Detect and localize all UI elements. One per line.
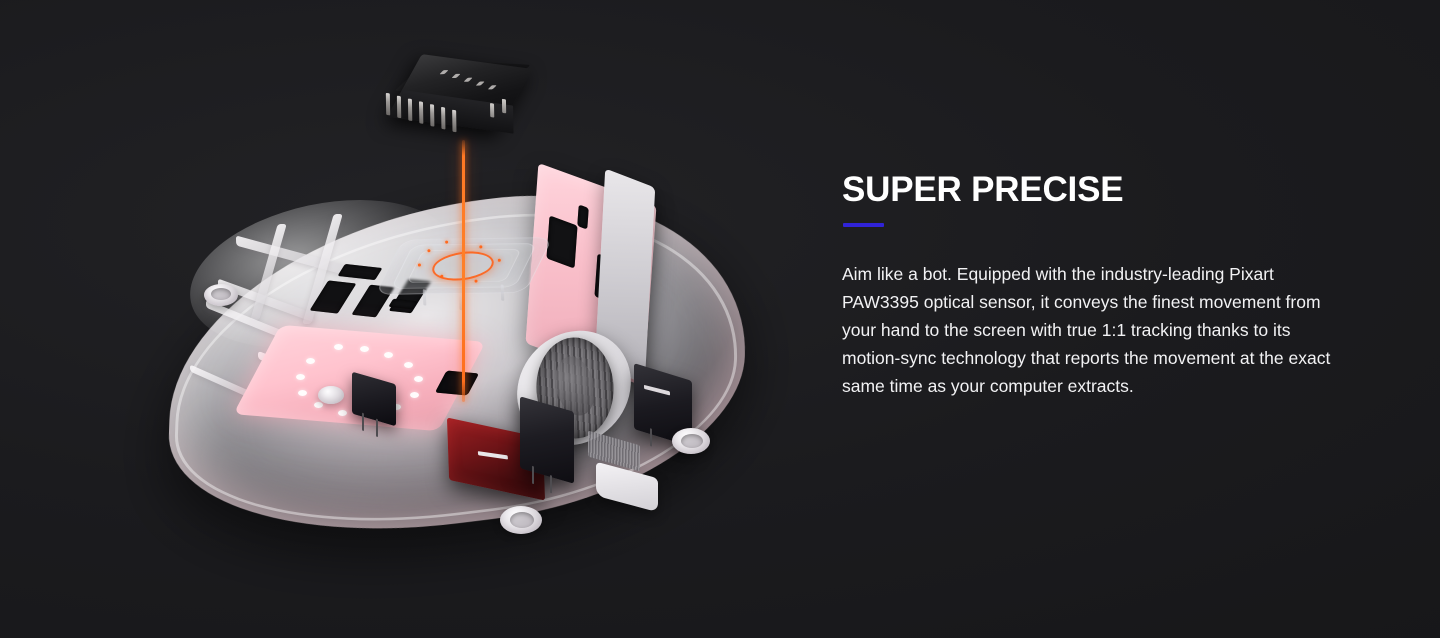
- screw-boss-hole: [211, 288, 231, 300]
- accent-underline: [843, 223, 884, 227]
- page-title: SUPER PRECISE: [842, 171, 1123, 208]
- screw-boss-hole: [681, 434, 703, 448]
- product-render-stage: [0, 0, 800, 638]
- chip-pin-row: [377, 57, 529, 150]
- optical-sensor-chip: [377, 57, 529, 150]
- side-wall-cutout: [577, 204, 589, 229]
- feature-copy-pane: SUPER PRECISE Aim like a bot. Equipped w…: [842, 0, 1352, 638]
- screw-boss: [318, 386, 344, 404]
- product-render-pane: [0, 0, 800, 638]
- feature-banner: SUPER PRECISE Aim like a bot. Equipped w…: [0, 0, 1440, 638]
- feature-description: Aim like a bot. Equipped with the indust…: [842, 260, 1334, 400]
- main-switch-housing: [520, 396, 574, 483]
- screw-boss-hole: [510, 512, 534, 528]
- laser-beam: [462, 140, 465, 402]
